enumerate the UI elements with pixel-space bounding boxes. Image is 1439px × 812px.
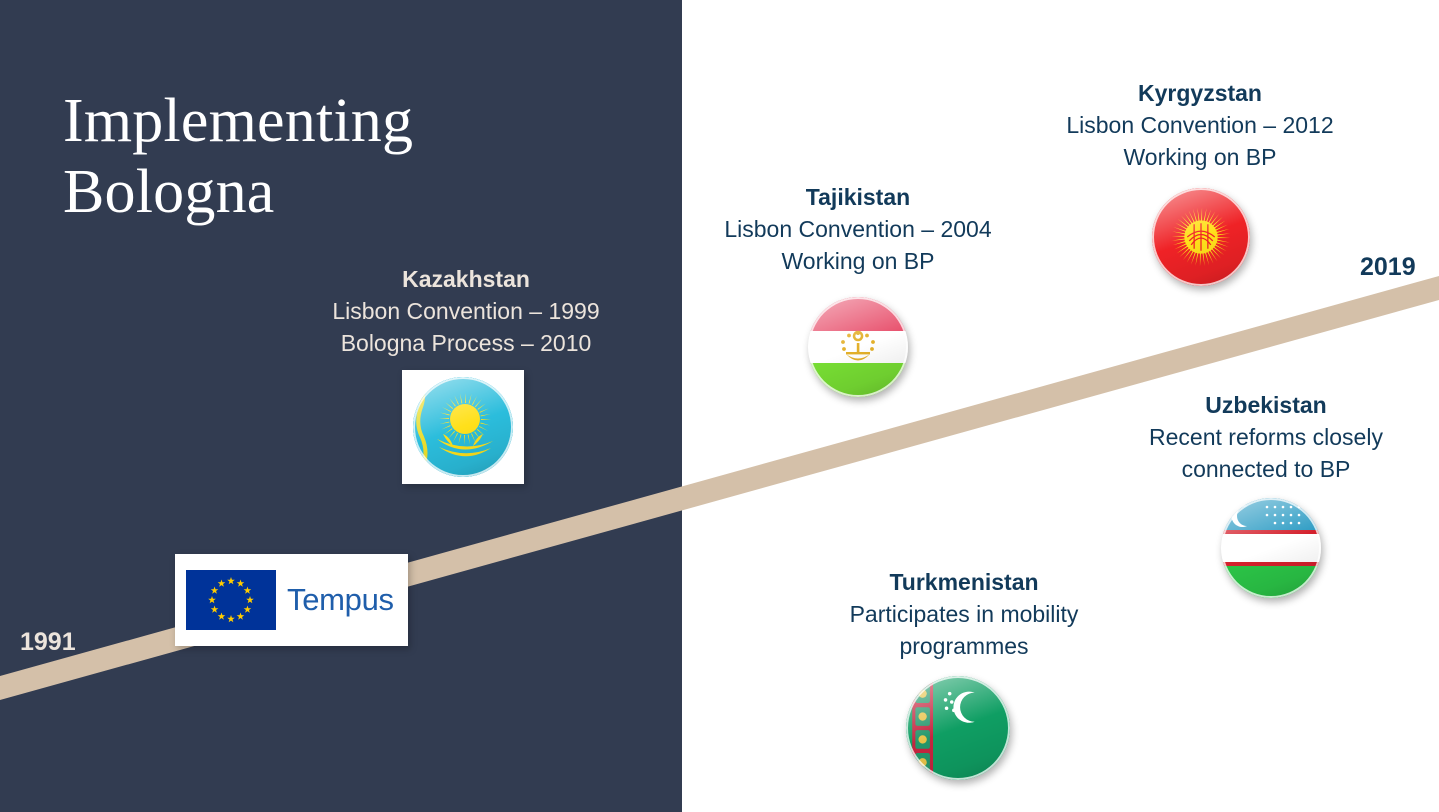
country-detail-uzbekistan-2: connected to BP — [1092, 454, 1439, 486]
country-name-kyrgyzstan: Kyrgyzstan — [1010, 78, 1390, 109]
page-title: Implementing Bologna — [63, 86, 623, 229]
country-name-uzbekistan: Uzbekistan — [1092, 390, 1439, 421]
country-detail-tajikistan-2: Working on BP — [668, 246, 1048, 278]
country-detail-turkmenistan-2: programmes — [790, 631, 1138, 663]
country-detail-tajikistan-1: Lisbon Convention – 2004 — [668, 214, 1048, 246]
kyrgyzstan-flag — [1152, 188, 1250, 286]
european-union-flag-icon — [186, 570, 276, 630]
slide-canvas: Implementing Bologna 1991 2019 Kazakhsta… — [0, 0, 1439, 812]
timeline-start-year: 1991 — [20, 628, 76, 657]
country-name-kazakhstan: Kazakhstan — [276, 264, 656, 295]
country-block-turkmenistan: Turkmenistan Participates in mobility pr… — [790, 567, 1138, 663]
country-block-kazakhstan: Kazakhstan Lisbon Convention – 1999 Bolo… — [276, 264, 656, 360]
turkmenistan-flag — [906, 676, 1010, 780]
country-detail-kazakhstan-1: Lisbon Convention – 1999 — [276, 296, 656, 328]
flag-card-kazakhstan — [402, 370, 524, 484]
country-detail-kyrgyzstan-1: Lisbon Convention – 2012 — [1010, 110, 1390, 142]
country-name-tajikistan: Tajikistan — [668, 182, 1048, 213]
country-block-uzbekistan: Uzbekistan Recent reforms closely connec… — [1092, 390, 1439, 486]
kazakhstan-flag — [413, 377, 513, 477]
country-block-tajikistan: Tajikistan Lisbon Convention – 2004 Work… — [668, 182, 1048, 278]
tempus-logo-card: Tempus — [175, 554, 408, 646]
country-detail-kyrgyzstan-2: Working on BP — [1010, 142, 1390, 174]
country-detail-kazakhstan-2: Bologna Process – 2010 — [276, 328, 656, 360]
tempus-wordmark: Tempus — [287, 582, 394, 618]
uzbekistan-flag — [1221, 498, 1321, 598]
country-detail-uzbekistan-1: Recent reforms closely — [1092, 422, 1439, 454]
country-detail-turkmenistan-1: Participates in mobility — [790, 599, 1138, 631]
country-block-kyrgyzstan: Kyrgyzstan Lisbon Convention – 2012 Work… — [1010, 78, 1390, 174]
country-name-turkmenistan: Turkmenistan — [790, 567, 1138, 598]
tajikistan-flag — [808, 297, 908, 397]
timeline-end-year: 2019 — [1360, 253, 1416, 282]
